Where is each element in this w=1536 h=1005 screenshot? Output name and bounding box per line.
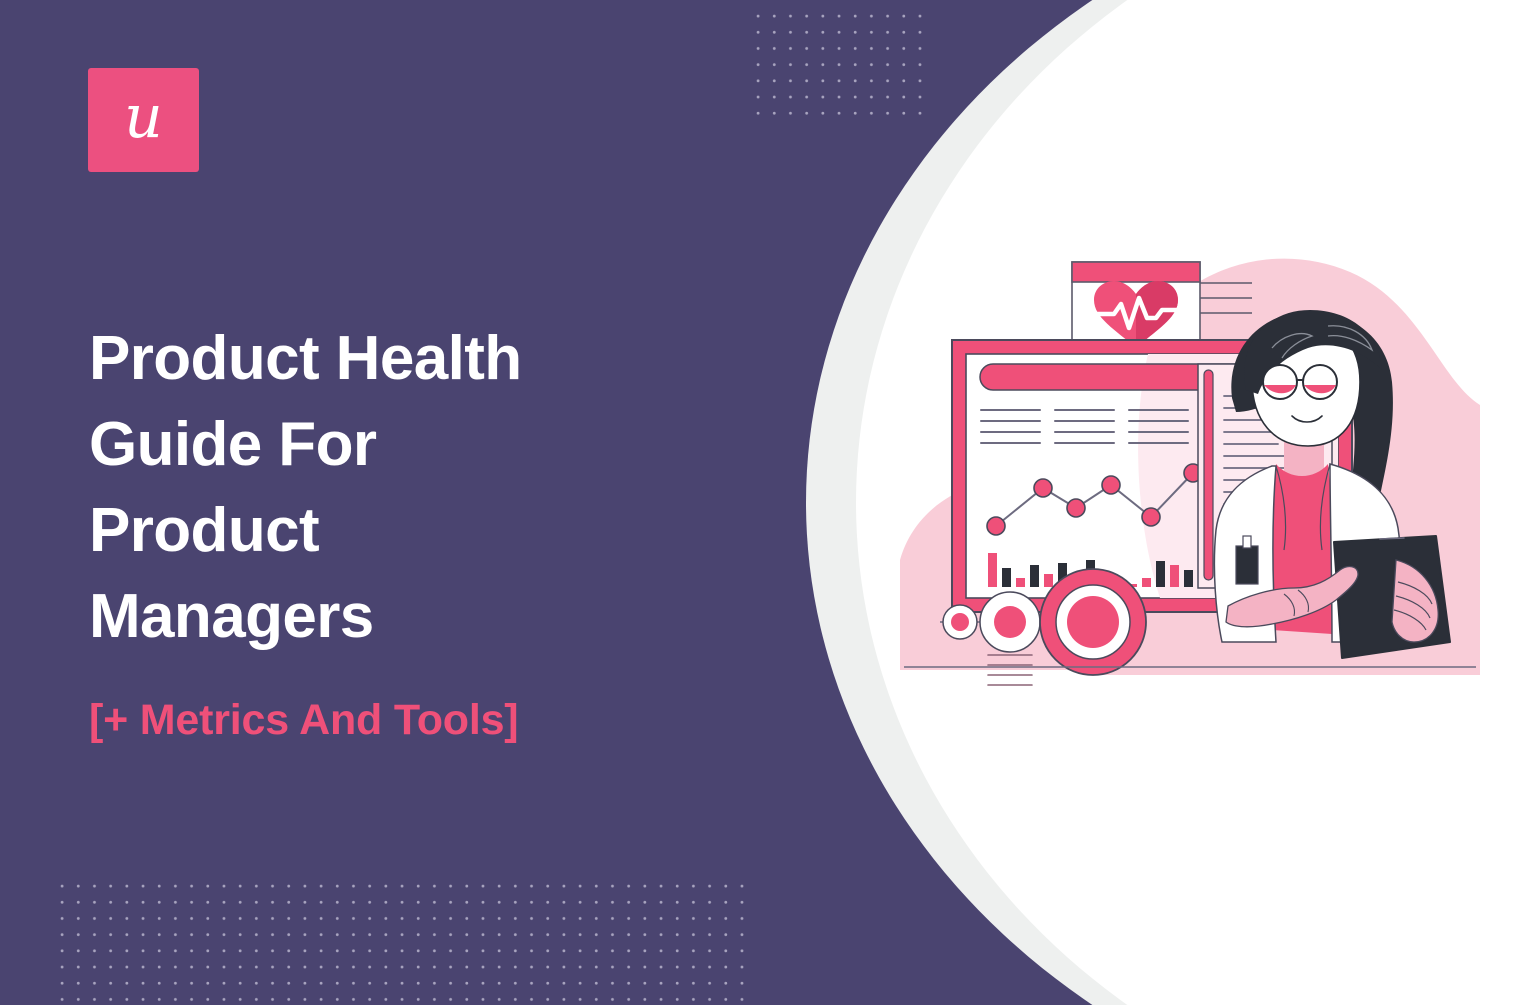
dot-grid-bottom <box>54 878 748 1005</box>
page-subtitle: [+ Metrics And Tools] <box>89 696 518 745</box>
page-title: Product Health Guide For Product Manager… <box>89 316 689 660</box>
dot-grid-top <box>750 8 928 116</box>
userpilot-logo[interactable]: u <box>88 68 199 172</box>
product-health-illustration <box>880 230 1500 690</box>
hero-banner: u Product Health Guide For Product Manag… <box>0 0 1536 1005</box>
logo-u-icon: u <box>124 87 163 147</box>
scrollbar-thumb <box>1204 370 1213 580</box>
